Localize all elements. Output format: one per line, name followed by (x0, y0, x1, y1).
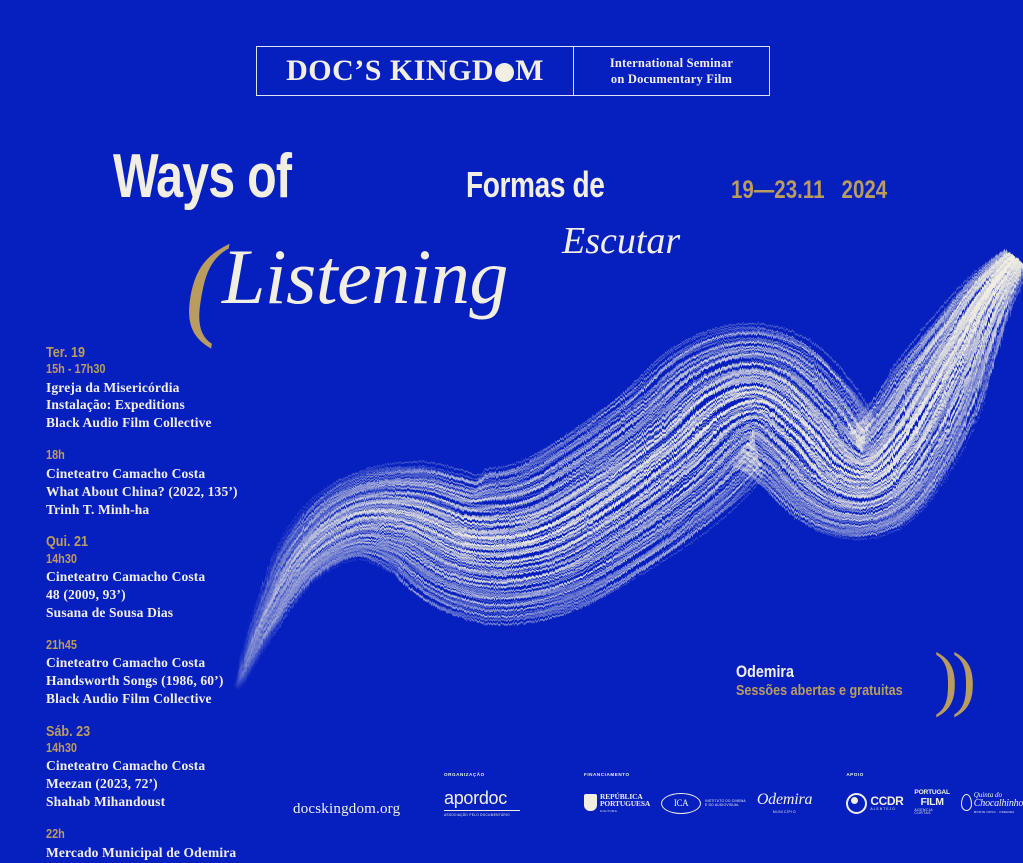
logo-subtitle-line2: on Documentary Film (611, 71, 732, 88)
logo-quinta-do-chocalhinho[interactable]: Quinta doChocalhinhoMONTE NOVO · ODEMIRA (961, 792, 1023, 814)
logo-rp-line2: PORTUGUESA (600, 800, 650, 808)
logo-pf-sub: AGENCIA CURTAS (914, 809, 949, 816)
footer-group: APOIOCCDRALENTEJOPORTUGALFILMAGENCIA CUR… (846, 772, 1023, 820)
programme-event-author: Shahab Mihandoust (46, 793, 306, 811)
logo-circle-icon (495, 63, 514, 82)
logo-subtitle-line1: International Seminar (610, 55, 733, 72)
logo-portugal-film[interactable]: PORTUGALFILMAGENCIA CURTAS (914, 790, 949, 815)
logo-ccdr-word: CCDR (870, 795, 903, 807)
footer-logo-row: CCDRALENTEJOPORTUGALFILMAGENCIA CURTASQu… (846, 786, 1023, 820)
footer-group-caption: FINANCIAMENTO (584, 772, 812, 777)
programme-event-title: Handsworth Songs (1986, 60’) (46, 672, 306, 690)
programme-event-title: Instalação: Expeditions (46, 396, 306, 414)
logo-apordoc-word: apordoc (444, 789, 507, 807)
logo-odemira-word: Odemira (757, 792, 812, 808)
programme-event: 18hCineteatro Camacho CostaWhat About Ch… (46, 447, 306, 518)
programme-event-author: Black Audio Film Collective (46, 690, 306, 708)
programme-event-time: 21h45 (46, 637, 264, 653)
location-info: Odemira Sessões abertas e gratuitas (736, 662, 934, 701)
programme-event: 14h30Cineteatro Camacho CostaMeezan (202… (46, 740, 306, 811)
logo-apordoc-sub: ASSOCIAÇÃO PELO DOCUMENTÁRIO (444, 813, 510, 817)
programme-event: 22hMercado Municipal de OdemiraPerforman… (46, 826, 306, 863)
logo-ica[interactable]: ICAINSTITUTO DO CINEMAE DO AUDIOVISUAL (661, 793, 746, 814)
title-english-line1: Ways of (113, 146, 291, 208)
programme-event-time: 14h30 (46, 551, 264, 567)
title-portuguese-line2: Escutar (562, 222, 680, 260)
programme-event-time: 14h30 (46, 740, 264, 756)
programme-event-time: 22h (46, 826, 264, 842)
logo-wordmark: DOC’S KINGD M (257, 47, 574, 95)
logo-odemira-sub: MUNICÍPIO (773, 810, 796, 814)
logo-ica-mark: ICA (661, 793, 701, 814)
logo-apordoc-rule (444, 810, 520, 811)
programme-event-venue: Igreja da Misericórdia (46, 379, 306, 397)
footer-logo-row: apordocASSOCIAÇÃO PELO DOCUMENTÁRIO (444, 786, 520, 820)
logo-word-part1: DOC’S KINGD (286, 54, 494, 88)
event-dates: 19—23.11 2024 (731, 178, 887, 203)
programme-event-venue: Cineteatro Camacho Costa (46, 465, 306, 483)
footer-group-caption: APOIO (846, 772, 1023, 777)
logo-republica-portuguesa[interactable]: REPÚBLICAPORTUGUESACULTURA (584, 793, 650, 814)
logo-ccdr-sub: ALENTEJO (870, 808, 903, 811)
footer-logo-row: REPÚBLICAPORTUGUESACULTURAICAINSTITUTO D… (584, 786, 812, 820)
footer-logos: ORGANIZAÇÃOapordocASSOCIAÇÃO PELO DOCUME… (444, 772, 1004, 834)
location-city: Odemira (736, 662, 903, 682)
programme-event-author: Susana de Sousa Dias (46, 604, 306, 622)
open-paren-glyph: ( (185, 228, 224, 344)
programme-day-block: Sáb. 2314h30Cineteatro Camacho CostaMeez… (46, 723, 306, 863)
programme-event-time: 15h - 17h30 (46, 361, 264, 377)
programme-day-label: Qui. 21 (46, 533, 264, 550)
bell-icon (961, 794, 972, 811)
programme-event: 14h30Cineteatro Camacho Costa48 (2009, 9… (46, 551, 306, 622)
logo-ccdr-alentejo[interactable]: CCDRALENTEJO (846, 793, 903, 814)
programme-day-block: Qui. 2114h30Cineteatro Camacho Costa48 (… (46, 533, 306, 707)
close-paren-marks-glyph: )) (934, 642, 970, 714)
programme-event-title: Meezan (2023, 72’) (46, 775, 306, 793)
programme-event-venue: Cineteatro Camacho Costa (46, 654, 306, 672)
footer-group: FINANCIAMENTOREPÚBLICAPORTUGUESACULTURAI… (584, 772, 812, 820)
programme-event-venue: Mercado Municipal de Odemira (46, 844, 306, 862)
title-portuguese-line1: Formas de (466, 167, 604, 203)
programme-event: 21h45Cineteatro Camacho CostaHandsworth … (46, 637, 306, 708)
programme-event-author: Trinh T. Minh-ha (46, 501, 306, 519)
logo-apordoc[interactable]: apordocASSOCIAÇÃO PELO DOCUMENTÁRIO (444, 789, 520, 817)
location-note: Sessões abertas e gratuitas (736, 682, 903, 701)
logo-rp-sub: CULTURA (600, 810, 650, 813)
title-english-line2: Listening (222, 238, 508, 316)
swirl-icon (846, 793, 867, 814)
programme-event-time: 18h (46, 447, 264, 463)
footer-group: ORGANIZAÇÃOapordocASSOCIAÇÃO PELO DOCUME… (444, 772, 520, 820)
programme-event: 15h - 17h30Igreja da MisericórdiaInstala… (46, 361, 306, 432)
website-url[interactable]: docskingdom.org (293, 801, 400, 818)
footer-group-caption: ORGANIZAÇÃO (444, 772, 520, 777)
programme-day-label: Ter. 19 (46, 344, 264, 361)
programme-event-author: Black Audio Film Collective (46, 414, 306, 432)
programme-day-label: Sáb. 23 (46, 723, 264, 740)
logo-pf-line2: FILM (920, 797, 943, 808)
logo-odemira-municipio[interactable]: OdemiraMUNICÍPIO (757, 792, 812, 814)
logo-subtitle: International Seminar on Documentary Fil… (574, 47, 769, 95)
programme-event-venue: Cineteatro Camacho Costa (46, 568, 306, 586)
logo-ica-line2: E DO AUDIOVISUAL (705, 803, 746, 807)
logo-word-part2: M (515, 54, 544, 88)
event-logo: DOC’S KINGD M International Seminar on D… (256, 46, 770, 96)
logo-qc-line2: Chocalhinho (974, 799, 1023, 810)
programme-event-title: What About China? (2022, 135’) (46, 483, 306, 501)
programme-event-title: 48 (2009, 93’) (46, 586, 306, 604)
programme-event-venue: Cineteatro Camacho Costa (46, 757, 306, 775)
programme-list: Ter. 1915h - 17h30Igreja da Misericórdia… (46, 344, 306, 863)
shield-icon (584, 794, 597, 811)
poster-canvas: DOC’S KINGD M International Seminar on D… (0, 0, 1023, 863)
logo-qc-sub: MONTE NOVO · ODEMIRA (974, 811, 1023, 814)
programme-day-block: Ter. 1915h - 17h30Igreja da Misericórdia… (46, 344, 306, 518)
